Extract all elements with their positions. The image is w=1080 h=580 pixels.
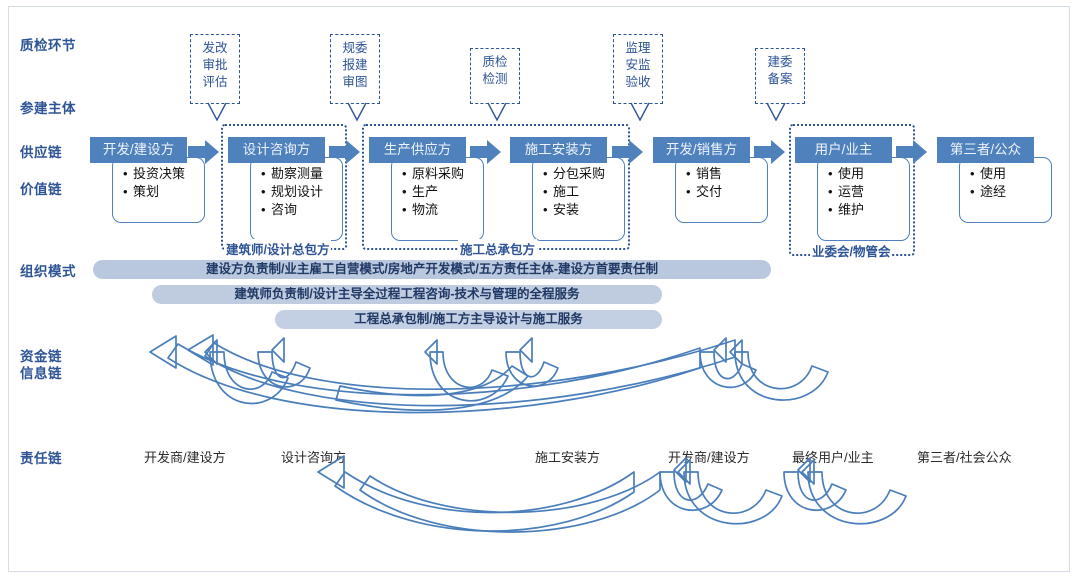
responsibility-label-1: 设计咨询方 — [281, 447, 346, 466]
flow-arrow-2 — [470, 140, 504, 164]
node-title[interactable]: 开发/销售方 — [653, 137, 750, 163]
row-label-7: 责任链 — [20, 447, 62, 467]
quality-callout-4: 建委备案 — [755, 48, 805, 104]
callout-line: 规委 — [331, 40, 379, 57]
row-label-6: 信息链 — [20, 362, 62, 382]
group-label-1: 施工总承包方 — [458, 239, 537, 258]
node-detail-item: 途经 — [980, 183, 1045, 201]
callout-line: 建委 — [756, 54, 804, 71]
node-detail-item: 交付 — [696, 183, 761, 201]
node-detail-item: 使用 — [980, 165, 1045, 183]
callout-line: 审批 — [191, 57, 239, 74]
callout-tail-2 — [488, 103, 510, 125]
callout-line: 评估 — [191, 74, 239, 91]
flow-arrow-3 — [612, 140, 646, 164]
node-title[interactable]: 开发/建设方 — [90, 137, 187, 163]
callout-line: 报建 — [331, 57, 379, 74]
row-label-2: 供应链 — [20, 141, 62, 161]
node-detail-item: 生产 — [412, 183, 477, 201]
group-label-0: 建筑师/设计总包方 — [224, 239, 331, 258]
node-detail-card: 勘察测量规划设计咨询 — [250, 157, 343, 241]
node-title[interactable]: 设计咨询方 — [228, 137, 325, 163]
organization-mode-bar-0[interactable]: 建设方负责制/业主雇工自营模式/房地产开发模式/五方责任主体-建设方首要责任制 — [93, 260, 771, 279]
node-detail-item: 规划设计 — [271, 183, 336, 201]
callout-tail-0 — [208, 103, 230, 125]
quality-callout-2: 质检检测 — [470, 48, 520, 104]
row-label-1: 参建主体 — [20, 97, 76, 117]
node-detail-card: 原料采购生产物流 — [391, 157, 484, 241]
node-detail-card: 销售交付 — [675, 157, 768, 223]
row-label-3: 价值链 — [20, 178, 62, 198]
node-detail-item: 分包采购 — [553, 165, 618, 183]
quality-callout-0: 发改审批评估 — [190, 34, 240, 104]
node-title[interactable]: 施工安装方 — [510, 137, 607, 163]
node-detail-item: 维护 — [838, 201, 903, 219]
node-detail-item: 勘察测量 — [271, 165, 336, 183]
responsibility-label-3: 开发商/建设方 — [668, 447, 750, 466]
callout-tail-3 — [631, 103, 653, 125]
callout-line: 备案 — [756, 71, 804, 88]
diagram-canvas: 质检环节参建主体供应链价值链组织模式资金链信息链责任链 建筑师/设计总包方施工总… — [0, 0, 1080, 580]
node-detail-item: 运营 — [838, 183, 903, 201]
callout-line: 监理 — [614, 40, 662, 57]
node-detail-card: 投资决策策划 — [112, 157, 205, 223]
responsibility-label-2: 施工安装方 — [535, 447, 600, 466]
node-detail-item: 策划 — [133, 183, 198, 201]
flow-arrow-1 — [329, 140, 363, 164]
row-label-4: 组织模式 — [20, 260, 76, 280]
row-label-0: 质检环节 — [20, 34, 76, 54]
node-detail-item: 使用 — [838, 165, 903, 183]
organization-mode-bar-2[interactable]: 工程总承包制/施工方主导设计与施工服务 — [275, 310, 662, 329]
node-title[interactable]: 第三者/公众 — [937, 137, 1034, 163]
responsibility-label-4: 最终用户/业主 — [792, 447, 874, 466]
node-detail-item: 物流 — [412, 201, 477, 219]
callout-line: 检测 — [471, 71, 519, 88]
callout-tail-4 — [767, 103, 789, 125]
flow-arrow-5 — [896, 140, 930, 164]
node-detail-item: 销售 — [696, 165, 761, 183]
quality-callout-1: 规委报建审图 — [330, 34, 380, 104]
callout-line: 安监 — [614, 57, 662, 74]
callout-line: 审图 — [331, 74, 379, 91]
node-detail-item: 施工 — [553, 183, 618, 201]
node-detail-item: 咨询 — [271, 201, 336, 219]
organization-mode-bar-1[interactable]: 建筑师负责制/设计主导全过程工程咨询-技术与管理的全程服务 — [152, 285, 662, 304]
node-title[interactable]: 用户/业主 — [795, 137, 892, 163]
flow-arrow-4 — [754, 140, 788, 164]
quality-callout-3: 监理安监验收 — [613, 34, 663, 104]
node-detail-item: 原料采购 — [412, 165, 477, 183]
flow-arrow-0 — [188, 140, 222, 164]
node-detail-card: 使用途经 — [959, 157, 1052, 223]
node-detail-item: 投资决策 — [133, 165, 198, 183]
callout-line: 质检 — [471, 54, 519, 71]
responsibility-label-5: 第三者/社会公众 — [917, 447, 1012, 466]
callout-line: 验收 — [614, 74, 662, 91]
node-detail-item: 安装 — [553, 201, 618, 219]
node-title[interactable]: 生产供应方 — [369, 137, 466, 163]
callout-line: 发改 — [191, 40, 239, 57]
callout-tail-1 — [348, 103, 370, 125]
node-detail-card: 使用运营维护 — [817, 157, 910, 241]
responsibility-label-0: 开发商/建设方 — [144, 447, 226, 466]
node-detail-card: 分包采购施工安装 — [532, 157, 625, 241]
group-label-2: 业委会/物管会 — [810, 241, 892, 260]
